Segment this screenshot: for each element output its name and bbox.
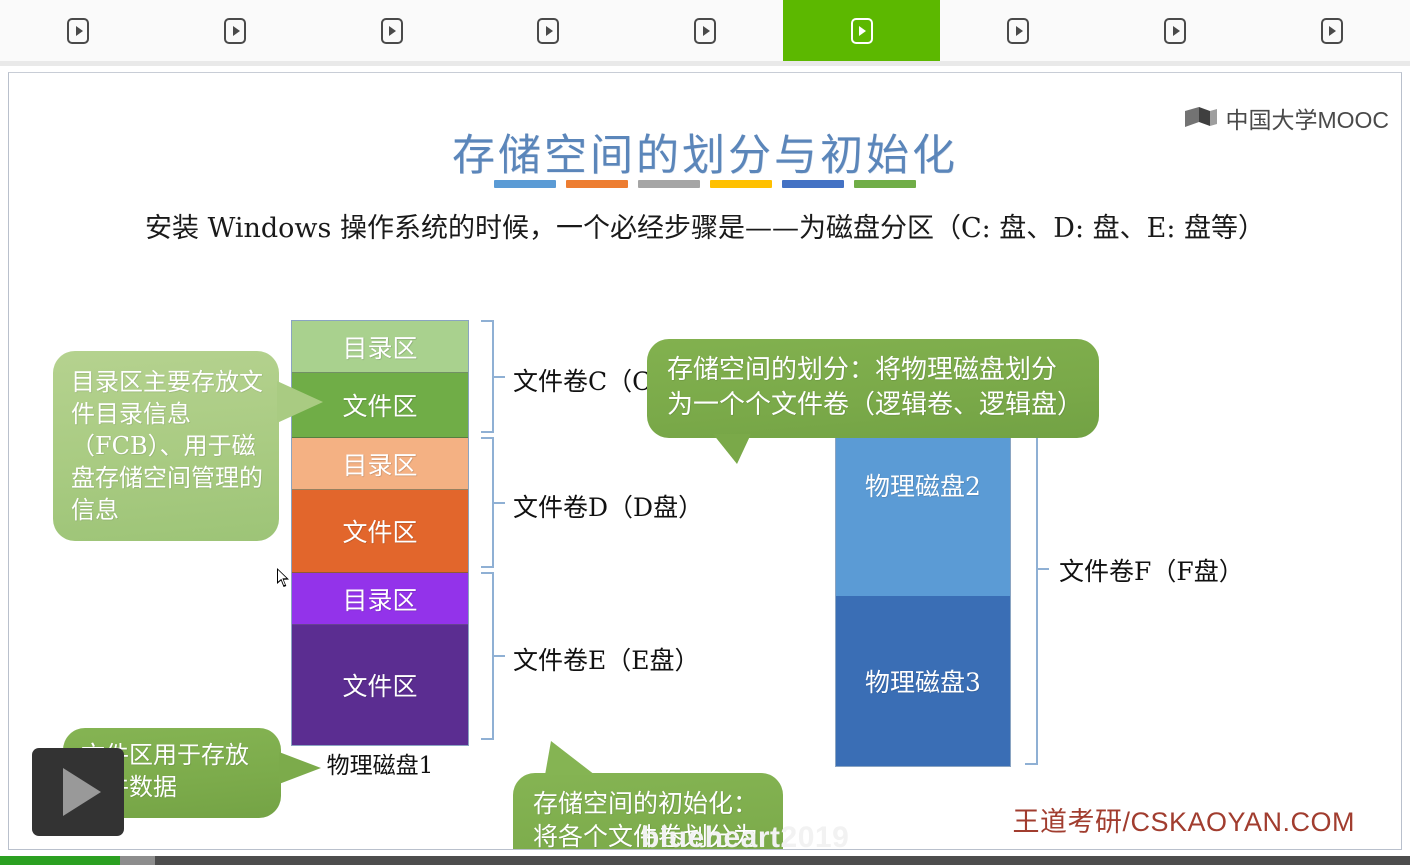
play-triangle-icon	[76, 26, 83, 36]
title-bar-3	[638, 180, 700, 188]
video-tab-8[interactable]	[1097, 0, 1254, 61]
title-underline-bars	[494, 180, 916, 188]
play-triangle-icon	[389, 26, 396, 36]
play-box-icon	[381, 18, 403, 44]
play-box-icon	[851, 18, 873, 44]
title-bar-5	[782, 180, 844, 188]
video-tab-5[interactable]	[627, 0, 784, 61]
disk1-block-label: 文件区	[342, 667, 417, 703]
video-chapter-tabbar	[0, 0, 1410, 62]
disk1-block-label: 目录区	[342, 329, 417, 365]
disk1-block-label: 文件区	[342, 387, 417, 423]
title-bar-2	[566, 180, 628, 188]
callout-tail	[277, 381, 323, 423]
disk1-block-e-directory: 目录区	[292, 573, 468, 625]
physical-disk-block-label: 物理磁盘3	[865, 663, 981, 699]
callout-directory-area-text: 目录区主要存放文件目录信息（FCB）、用于磁盘存储空间管理的信息	[71, 368, 263, 524]
video-tab-4[interactable]	[470, 0, 627, 61]
video-tab-2[interactable]	[157, 0, 314, 61]
play-triangle-icon	[703, 26, 710, 36]
video-tab-3[interactable]	[313, 0, 470, 61]
slide-canvas: 中国大学MOOC 存储空间的划分与初始化 安装 Windows 操作系统的时候，…	[8, 72, 1402, 850]
video-progress-bar[interactable]	[0, 856, 1410, 865]
title-bar-6	[854, 180, 916, 188]
disk1-block-label: 目录区	[342, 581, 417, 617]
play-box-icon	[694, 18, 716, 44]
physical-disk-block-3: 物理磁盘3	[836, 596, 1010, 766]
disk1-block-label: 目录区	[342, 446, 417, 482]
play-triangle-icon	[233, 26, 240, 36]
play-button-overlay[interactable]	[32, 748, 124, 836]
footer-brand: 王道考研/CSKAOYAN.COM	[1012, 800, 1355, 839]
bracket-nub	[493, 655, 505, 657]
volume-bracket-d	[481, 437, 494, 568]
callout-directory-area: 目录区主要存放文件目录信息（FCB）、用于磁盘存储空间管理的信息	[53, 351, 279, 541]
play-triangle-icon	[859, 26, 866, 36]
callout-partition: 存储空间的划分：将物理磁盘划分为一个个文件卷（逻辑卷、逻辑盘）	[647, 339, 1099, 438]
callout-tail	[545, 741, 595, 775]
bracket-nub	[493, 502, 505, 504]
callout-partition-text: 存储空间的划分：将物理磁盘划分为一个个文件卷（逻辑卷、逻辑盘）	[667, 355, 1083, 420]
slide-subtitle: 安装 Windows 操作系统的时候，一个必经步骤是——为磁盘分区（C: 盘、D…	[9, 206, 1401, 245]
bracket-nub	[1037, 568, 1049, 570]
disk1-block-c-directory: 目录区	[292, 321, 468, 373]
video-tab-6[interactable]	[783, 0, 940, 61]
video-tab-7[interactable]	[940, 0, 1097, 61]
play-box-icon	[1164, 18, 1186, 44]
volume-label-f: 文件卷F（F盘）	[1059, 552, 1244, 588]
play-box-icon	[1321, 18, 1343, 44]
video-tab-1[interactable]	[0, 0, 157, 61]
video-tab-9[interactable]	[1253, 0, 1410, 61]
watermark: blueheart2019	[641, 821, 849, 850]
callout-tail	[279, 752, 321, 784]
disk1-block-e-file: 文件区	[292, 625, 468, 745]
volume-label-d: 文件卷D（D盘）	[513, 488, 703, 524]
play-box-icon	[537, 18, 559, 44]
play-triangle-icon	[1016, 26, 1023, 36]
play-box-icon	[67, 18, 89, 44]
play-triangle-icon	[1329, 26, 1336, 36]
title-bar-1	[494, 180, 556, 188]
bracket-nub	[493, 376, 505, 378]
play-triangle-icon	[1173, 26, 1180, 36]
title-bar-4	[710, 180, 772, 188]
play-triangle-icon	[546, 26, 553, 36]
volume-label-e: 文件卷E（E盘）	[513, 641, 700, 677]
video-player-page: 中国大学MOOC 存储空间的划分与初始化 安装 Windows 操作系统的时候，…	[0, 0, 1410, 865]
play-triangle-icon	[63, 768, 101, 816]
play-box-icon	[224, 18, 246, 44]
disk1-block-d-directory: 目录区	[292, 438, 468, 490]
volume-bracket-e	[481, 572, 494, 740]
page-title: 存储空间的划分与初始化	[9, 121, 1401, 183]
disk1-block-d-file: 文件区	[292, 490, 468, 573]
disk1-block-label: 文件区	[342, 513, 417, 549]
callout-tail	[713, 434, 751, 464]
play-box-icon	[1007, 18, 1029, 44]
progress-played	[0, 856, 120, 865]
volume-bracket-c	[481, 320, 494, 433]
physical-disk-block-label: 物理磁盘2	[865, 467, 981, 503]
